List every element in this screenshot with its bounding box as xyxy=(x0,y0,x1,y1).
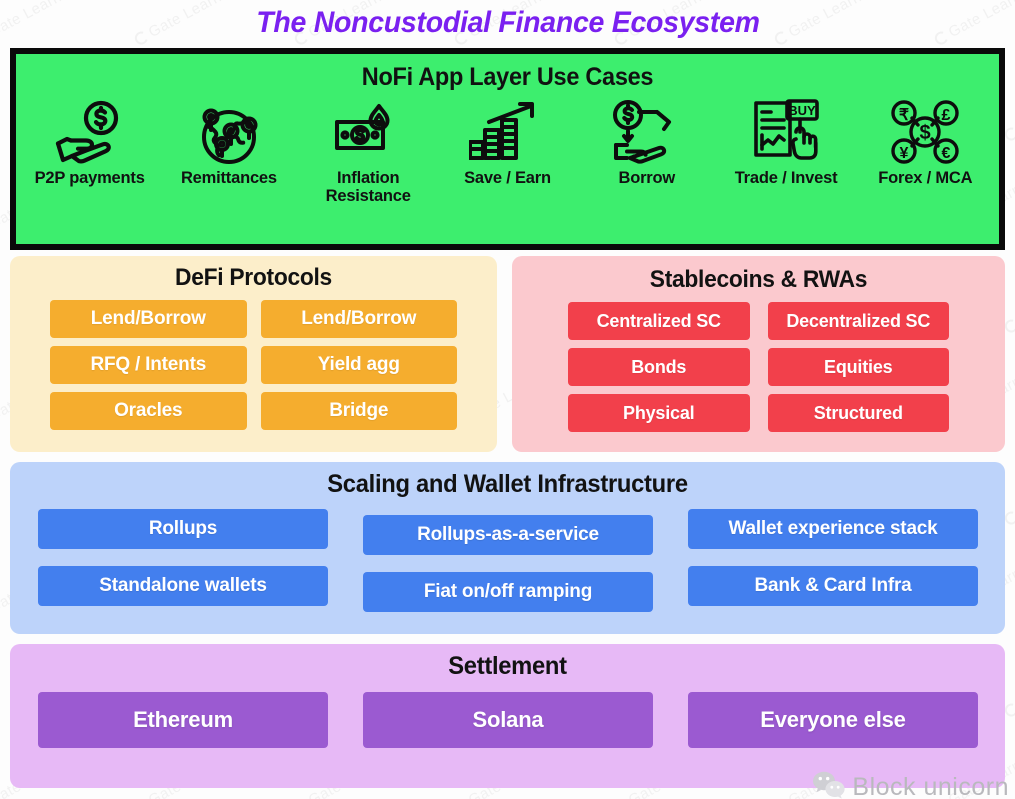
settlement-section: Settlement Ethereum Solana Everyone else xyxy=(10,644,1005,788)
page-title: The Noncustodial Finance Ecosystem xyxy=(0,6,1015,40)
use-case-trade-invest[interactable]: BUY Trade / Invest xyxy=(716,96,855,206)
defi-pill[interactable]: Lend/Borrow xyxy=(50,300,247,338)
stablecoins-pill[interactable]: Bonds xyxy=(568,348,750,386)
svg-text:¥: ¥ xyxy=(900,145,909,162)
svg-text:£: £ xyxy=(942,107,951,124)
stablecoins-pill[interactable]: Decentralized SC xyxy=(768,302,950,340)
scaling-pill[interactable]: Rollups xyxy=(38,509,328,549)
defi-pill[interactable]: Yield agg xyxy=(261,346,458,384)
wechat-logo-icon xyxy=(812,770,846,799)
use-case-label: Save / Earn xyxy=(464,170,551,188)
stablecoins-pill[interactable]: Equities xyxy=(768,348,950,386)
chart-with-buy-button-icon: BUY xyxy=(748,96,824,168)
use-case-label: P2P payments xyxy=(35,170,145,188)
use-case-p2p-payments[interactable]: P2P payments xyxy=(20,96,159,206)
use-case-save-earn[interactable]: Save / Earn xyxy=(438,96,577,206)
svg-text:$: $ xyxy=(920,122,931,144)
stablecoins-pill[interactable]: Structured xyxy=(768,394,950,432)
use-case-icon-row: P2P payments xyxy=(16,96,999,206)
svg-text:€: € xyxy=(942,145,951,162)
use-case-borrow[interactable]: Borrow xyxy=(577,96,716,206)
brand-name: Block unicorn xyxy=(852,773,1009,799)
scaling-pill-grid: Rollups Rollups-as-a-service Wallet expe… xyxy=(10,509,1005,625)
use-case-remittances[interactable]: Remittances xyxy=(159,96,298,206)
stablecoins-pill[interactable]: Physical xyxy=(568,394,750,432)
stablecoins-pill[interactable]: Centralized SC xyxy=(568,302,750,340)
use-case-label-line2: Resistance xyxy=(326,187,411,205)
use-case-inflation-resistance[interactable]: Inflation Resistance xyxy=(299,96,438,206)
use-case-forex-mca[interactable]: $ ₹ £ ¥ € Forex / MCA xyxy=(856,96,995,206)
coin-to-hand-icon xyxy=(609,96,685,168)
defi-pill[interactable]: RFQ / Intents xyxy=(50,346,247,384)
scaling-pill[interactable]: Wallet experience stack xyxy=(688,509,978,549)
settlement-pill[interactable]: Solana xyxy=(363,692,653,748)
rising-coin-stacks-icon xyxy=(469,96,545,168)
defi-pill-grid: Lend/Borrow Lend/Borrow RFQ / Intents Yi… xyxy=(10,300,497,430)
settlement-pill[interactable]: Ethereum xyxy=(38,692,328,748)
settlement-heading: Settlement xyxy=(35,644,980,681)
settlement-pill-grid: Ethereum Solana Everyone else xyxy=(10,692,1005,756)
stablecoins-rwas-section: Stablecoins & RWAs Centralized SC Decent… xyxy=(512,256,1005,452)
use-case-label: Forex / MCA xyxy=(878,170,972,188)
settlement-pill[interactable]: Everyone else xyxy=(688,692,978,748)
app-layer-section: NoFi App Layer Use Cases P2P payments xyxy=(10,48,1005,250)
brand-credit: Block unicorn xyxy=(812,770,1009,799)
burning-banknote-icon xyxy=(329,96,407,168)
stablecoins-pill-grid: Centralized SC Decentralized SC Bonds Eq… xyxy=(512,302,1005,432)
infographic-page: Gate LearnGate LearnGate LearnGate Learn… xyxy=(0,0,1015,799)
scaling-wallet-infrastructure-section: Scaling and Wallet Infrastructure Rollup… xyxy=(10,462,1005,634)
use-case-label: Remittances xyxy=(181,170,277,188)
use-case-label-line1: Inflation xyxy=(337,169,399,187)
defi-pill[interactable]: Bridge xyxy=(261,392,458,430)
app-layer-heading: NoFi App Layer Use Cases xyxy=(45,63,969,92)
scaling-pill[interactable]: Bank & Card Infra xyxy=(688,566,978,606)
scaling-pill[interactable]: Rollups-as-a-service xyxy=(363,515,653,555)
hand-with-dollar-coin-icon xyxy=(53,96,127,168)
defi-pill[interactable]: Oracles xyxy=(50,392,247,430)
use-case-label: Borrow xyxy=(618,170,675,188)
scaling-pill[interactable]: Standalone wallets xyxy=(38,566,328,606)
scaling-heading: Scaling and Wallet Infrastructure xyxy=(35,462,980,499)
currency-coins-network-icon: $ ₹ £ ¥ € xyxy=(886,96,964,168)
svg-text:₹: ₹ xyxy=(899,107,909,124)
page-title-text: The Noncustodial Finance Ecosystem xyxy=(256,6,759,40)
scaling-pill[interactable]: Fiat on/off ramping xyxy=(363,572,653,612)
globe-with-location-pins-icon xyxy=(192,96,266,168)
svg-text:BUY: BUY xyxy=(788,103,816,118)
use-case-label: Inflation Resistance xyxy=(326,170,411,206)
use-case-label: Trade / Invest xyxy=(735,170,838,188)
defi-protocols-section: DeFi Protocols Lend/Borrow Lend/Borrow R… xyxy=(10,256,497,452)
defi-pill[interactable]: Lend/Borrow xyxy=(261,300,458,338)
defi-heading: DeFi Protocols xyxy=(22,256,485,292)
stablecoins-heading: Stablecoins & RWAs xyxy=(524,256,992,294)
